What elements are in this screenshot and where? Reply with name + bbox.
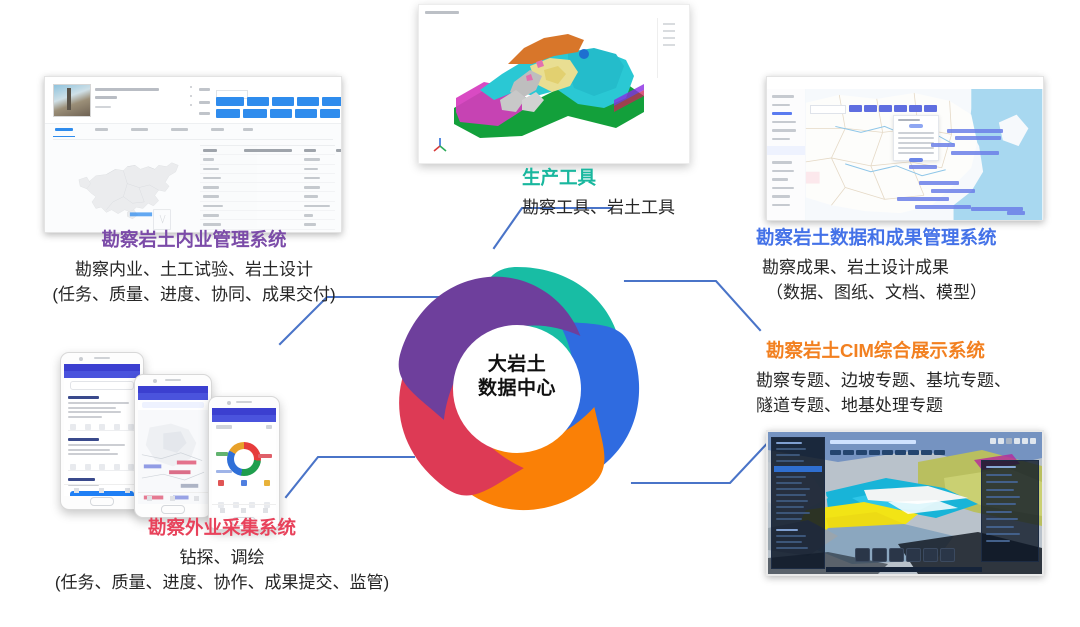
map-marker[interactable] (955, 136, 1001, 140)
caption-title: 勘察岩土内业管理系统 (24, 228, 364, 252)
phone-bottom-nav[interactable] (212, 504, 276, 516)
caption-line: 勘察工具、岩土工具 (460, 195, 760, 220)
map-search-input[interactable] (810, 105, 846, 114)
map-marker[interactable] (947, 129, 1003, 133)
table-row[interactable] (200, 211, 335, 220)
table-row[interactable] (200, 192, 335, 201)
screenshot-desktop-web-app-china-map[interactable] (44, 76, 342, 233)
stats-row-label (216, 470, 232, 473)
app-title-bar (64, 371, 140, 378)
cim-status-bar (826, 567, 982, 572)
header-meta-dots (190, 86, 192, 113)
stats-filter-right[interactable] (266, 425, 272, 429)
map-marker[interactable] (931, 189, 975, 193)
caption-title: 勘察岩土CIM综合展示系统 (742, 339, 1080, 363)
filter-label-2 (199, 101, 210, 104)
model-legend-panel[interactable] (657, 18, 680, 78)
app-title-bar (138, 393, 208, 400)
filter-label-1 (199, 88, 210, 91)
screenshot-map-data-management-console[interactable] (766, 76, 1044, 221)
phone-screen-map-survey[interactable] (138, 386, 208, 504)
project-subtitle-placeholder (95, 96, 117, 99)
phone-home-button[interactable] (90, 497, 114, 506)
tab-item-5 (211, 128, 224, 131)
project-thumbnail (53, 84, 91, 117)
screenshot-3d-geological-model-viewer[interactable] (418, 4, 690, 164)
phone-screen-task-list[interactable] (64, 364, 140, 496)
progress-donut-chart (227, 442, 261, 476)
layer-tree-selected-item[interactable] (774, 466, 822, 472)
caption-cim-display: 勘察岩土CIM综合展示系统 勘察专题、边坡专题、基坑专题、 隧道专题、地基处理专… (742, 339, 1080, 418)
tab-item-6 (243, 128, 253, 131)
table-header-row (200, 146, 335, 155)
stats-filter-left[interactable] (216, 425, 232, 429)
phone-bottom-nav[interactable] (138, 492, 208, 504)
caption-line: (任务、质量、进度、协同、成果交付) (24, 282, 364, 307)
console-sidebar[interactable] (767, 89, 806, 220)
phone-notch (135, 375, 211, 386)
app-status-bar (138, 386, 208, 393)
sidebar-item-selected[interactable] (767, 146, 805, 155)
phone-bottom-nav[interactable] (64, 484, 140, 496)
cim-view-control-dock[interactable] (855, 548, 955, 562)
caption-line: 钻探、调绘 (22, 545, 422, 570)
caption-line: 隧道专题、地基处理专题 (742, 393, 1080, 418)
survey-map-canvas[interactable] (138, 410, 208, 504)
table-row[interactable] (200, 183, 335, 192)
caption-title: 勘察岩土数据和成果管理系统 (742, 226, 1080, 250)
caption-line: (任务、质量、进度、协作、成果提交、监管) (22, 570, 422, 595)
table-row[interactable] (200, 174, 335, 183)
map-marker[interactable] (1007, 211, 1025, 215)
app-header (45, 77, 341, 124)
phone-search-input[interactable] (70, 381, 134, 390)
cim-legend-panel[interactable] (981, 460, 1039, 562)
table-row[interactable] (200, 165, 335, 174)
map-marker[interactable] (931, 143, 955, 147)
screenshot-cim-3d-dark-viewer[interactable] (766, 430, 1044, 576)
caption-data-results: 勘察岩土数据和成果管理系统 勘察成果、岩土设计成果 （数据、图纸、文档、模型） (742, 226, 1080, 305)
map-info-popup[interactable] (893, 115, 939, 161)
map-marker[interactable] (951, 151, 999, 155)
china-map-outline (65, 147, 200, 232)
phone-device-3[interactable] (208, 396, 280, 530)
records-table[interactable] (200, 145, 335, 228)
map-filter-bar[interactable] (142, 402, 204, 408)
cim-toolbar-tabs[interactable] (830, 450, 945, 455)
caption-title: 勘察外业采集系统 (22, 516, 422, 540)
tab-item-2 (95, 128, 108, 131)
caption-line: 勘察专题、边坡专题、基坑专题、 (742, 368, 1080, 393)
china-map-panel[interactable] (65, 147, 200, 232)
geological-block-model (418, 4, 690, 164)
legend-chip-left (216, 452, 228, 456)
app-status-bar (212, 408, 276, 415)
center-label: 大岩土 数据中心 (383, 353, 651, 402)
survey-map (138, 410, 208, 504)
phone-notch (61, 353, 143, 364)
caption-production-tools: 生产工具 勘察工具、岩土工具 (460, 166, 760, 220)
caption-line: 勘察内业、土工试验、岩土设计 (24, 257, 364, 282)
map-marker[interactable] (897, 197, 949, 201)
caption-line: （数据、图纸、文档、模型） (742, 280, 1080, 305)
table-row[interactable] (200, 202, 335, 211)
phone-notch (209, 397, 279, 408)
cim-layer-tree-panel[interactable] (771, 437, 825, 569)
tab-item-4 (171, 128, 188, 131)
action-button-row-2[interactable] (216, 109, 342, 118)
filter-label-3 (199, 112, 210, 115)
map-marker[interactable] (919, 181, 959, 185)
caption-line: 勘察成果、岩土设计成果 (742, 255, 1080, 280)
center-pinwheel-logo: 大岩土 数据中心 (383, 258, 651, 520)
caption-field-collection: 勘察外业采集系统 钻探、调绘 (任务、质量、进度、协作、成果提交、监管) (22, 516, 422, 595)
phone-device-1[interactable] (60, 352, 144, 510)
phone-device-2[interactable] (134, 374, 212, 518)
caption-title: 生产工具 (460, 166, 760, 190)
app-title-bar (212, 415, 276, 422)
map-marker[interactable] (915, 205, 971, 209)
architecture-diagram: 大岩土 数据中心 勘察岩土内业管理系统 勘察内业、土工试验、岩土设计 (任务、质… (0, 0, 1080, 627)
app-tab-bar[interactable] (53, 125, 333, 140)
map-marker[interactable] (909, 165, 937, 169)
caption-inner-business: 勘察岩土内业管理系统 勘察内业、土工试验、岩土设计 (任务、质量、进度、协同、成… (24, 228, 364, 307)
cim-scene-title (830, 440, 916, 444)
table-row[interactable] (200, 155, 335, 164)
phone-home-button[interactable] (161, 505, 185, 514)
legend-chip-right (258, 454, 272, 458)
app-status-bar (64, 364, 140, 371)
screenshot-mobile-apps-three-phones[interactable] (60, 348, 300, 518)
project-meta-placeholder (95, 106, 111, 108)
center-label-line1: 大岩土 (383, 353, 651, 377)
tab-item-active (55, 128, 73, 131)
project-title-placeholder (95, 88, 159, 91)
tab-item-3 (131, 128, 148, 131)
cim-window-tools[interactable] (990, 438, 1036, 444)
connector-cim-display (632, 435, 775, 483)
task-card-actions[interactable] (70, 464, 134, 470)
center-label-line2: 数据中心 (383, 377, 651, 401)
task-card-actions[interactable] (70, 424, 134, 430)
donut-center-hole (234, 449, 254, 469)
map-toolbar[interactable] (849, 105, 937, 112)
phone-screen-statistics[interactable] (212, 408, 276, 516)
legend-row (218, 480, 270, 486)
map-canvas[interactable] (805, 89, 1043, 220)
action-button-row-1[interactable] (216, 97, 342, 106)
